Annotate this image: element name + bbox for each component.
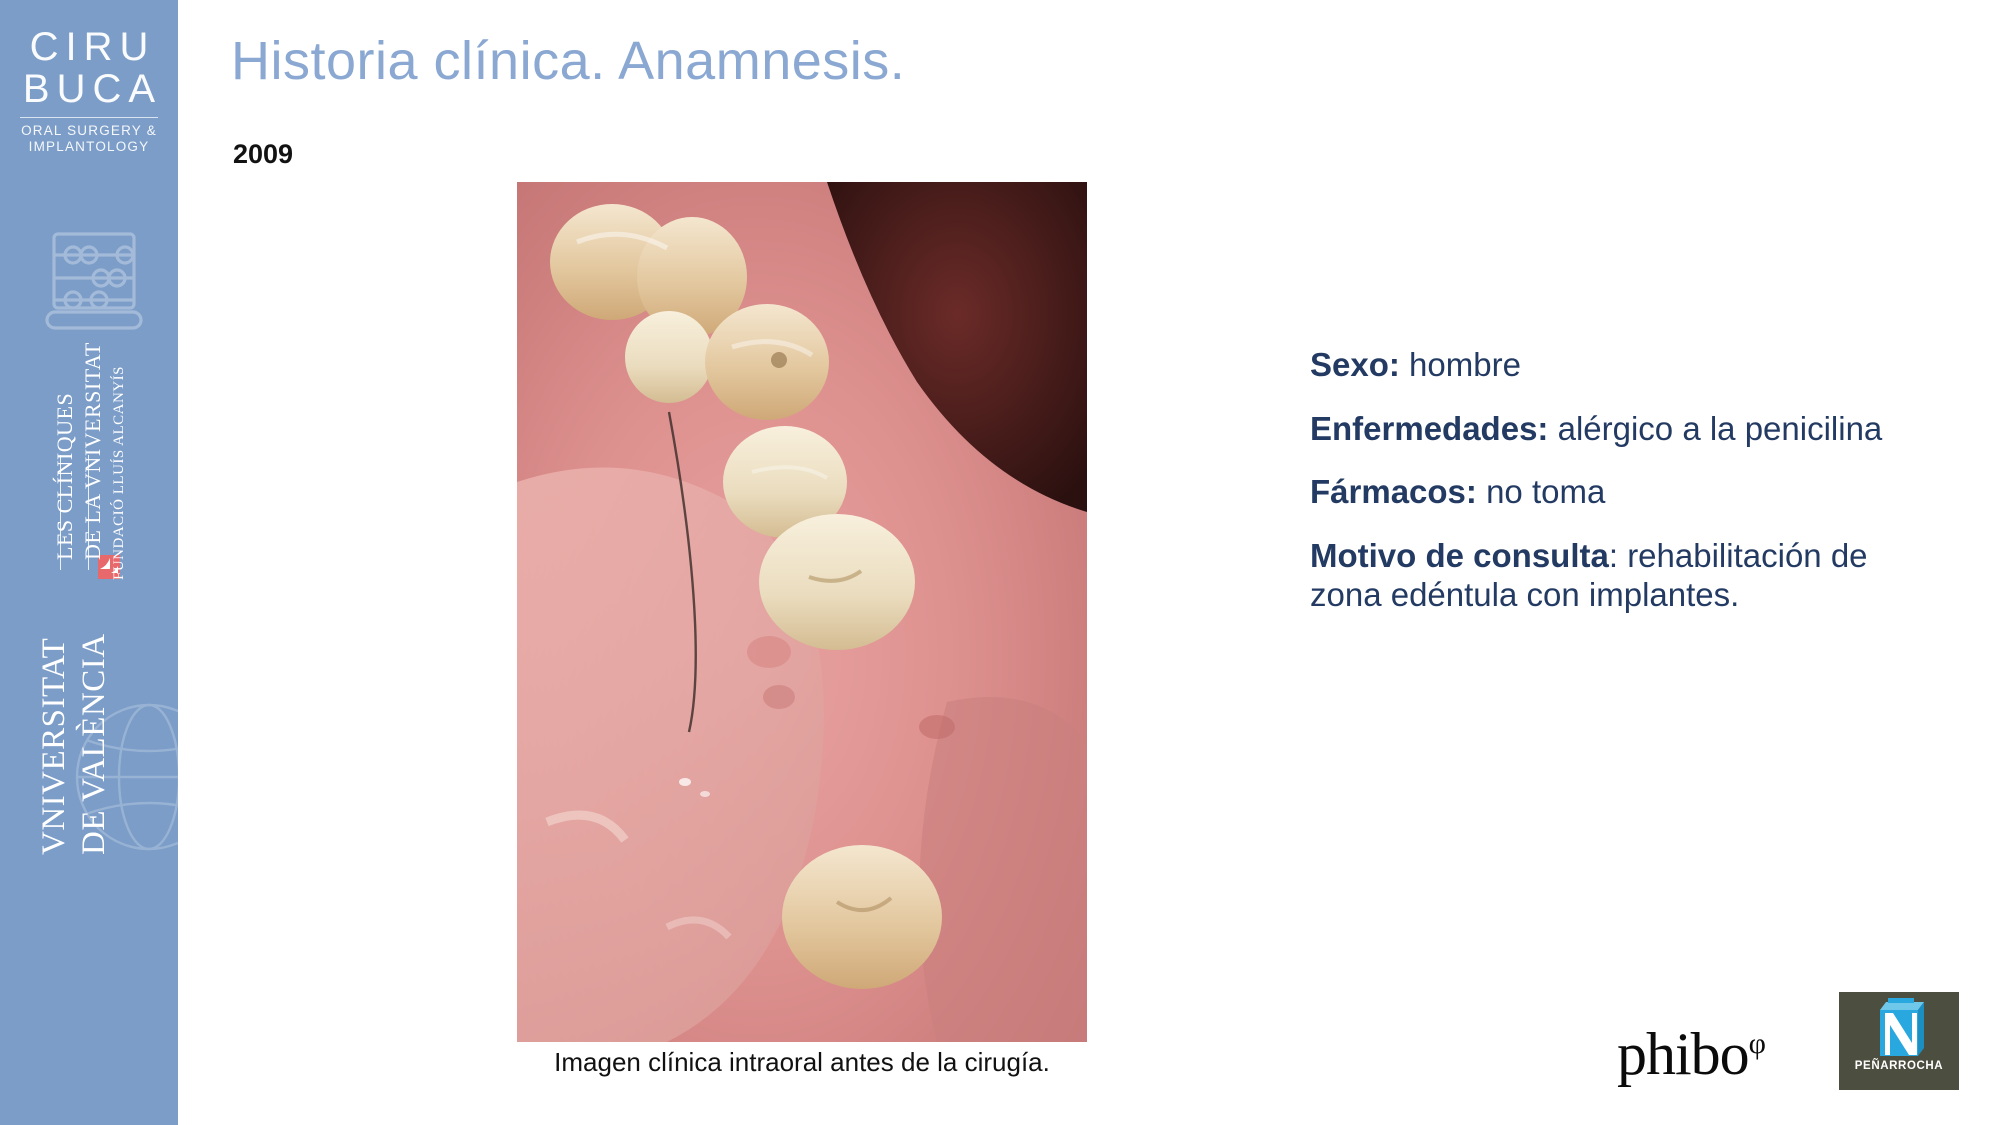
info-key: Enfermedades: xyxy=(1310,410,1548,447)
page-title: Historia clínica. Anamnesis. xyxy=(231,30,905,92)
info-key: Fármacos: xyxy=(1310,473,1477,510)
university-wordmark: VNIVERSITAT DE VALÈNCIA LES CLÍNIQUES DE… xyxy=(0,0,178,1125)
uv-clinics-line-1: LES CLÍNIQUES xyxy=(52,393,78,560)
phibo-logo: phiboφ xyxy=(1617,1024,1766,1084)
phibo-phi-symbol: φ xyxy=(1749,1027,1766,1060)
uv-foundation-line: FUNDACIÓ LLUÍS ALCANYÍS xyxy=(111,366,128,580)
penarrocha-label: PEÑARROCHA xyxy=(1855,1060,1943,1072)
info-row: Sexo: hombre xyxy=(1310,345,1930,385)
info-row: Motivo de consulta: rehabilitación de zo… xyxy=(1310,536,1930,615)
photo-caption: Imagen clínica intraoral antes de la cir… xyxy=(517,1047,1087,1078)
info-value: hombre xyxy=(1400,346,1521,383)
clinical-photo xyxy=(517,182,1087,1042)
info-key: Motivo de consulta xyxy=(1310,537,1609,574)
sidebar: CIRU BUCA ORAL SURGERY & IMPLANTOLOGY VN… xyxy=(0,0,178,1125)
uv-clinics-line-2: DE LA VNIVERSITAT xyxy=(80,342,106,560)
uv-name-line-1: VNIVERSITAT xyxy=(36,638,73,855)
info-value: no toma xyxy=(1477,473,1605,510)
phibo-wordmark: phibo xyxy=(1617,1021,1749,1087)
year-label: 2009 xyxy=(233,139,293,170)
info-key: Sexo: xyxy=(1310,346,1400,383)
info-row: Fármacos: no toma xyxy=(1310,472,1930,512)
penarrocha-logo: PEÑARROCHA xyxy=(1839,992,1959,1090)
patient-info-panel: Sexo: hombre Enfermedades: alérgico a la… xyxy=(1310,345,1930,639)
info-row: Enfermedades: alérgico a la penicilina xyxy=(1310,409,1930,449)
penarrocha-n-icon xyxy=(1872,998,1926,1056)
uv-name-line-2: DE VALÈNCIA xyxy=(76,633,113,855)
info-value: alérgico a la penicilina xyxy=(1548,410,1882,447)
